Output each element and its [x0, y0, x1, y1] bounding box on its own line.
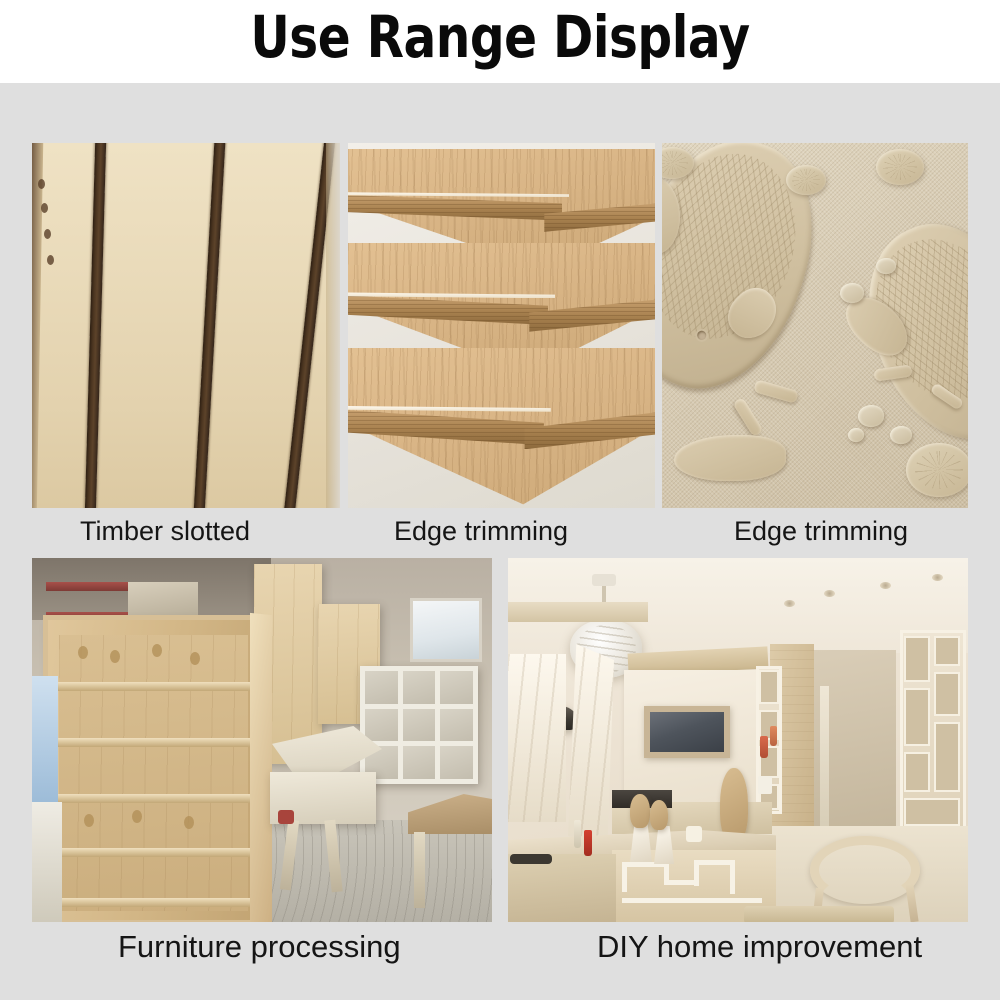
wood-knot	[190, 652, 200, 665]
tabletop-decor	[510, 854, 552, 864]
wood-knot	[47, 255, 54, 265]
white-cabinet	[32, 802, 62, 922]
screen-cell	[904, 636, 930, 682]
downlight	[880, 582, 891, 589]
cubby-cell	[440, 709, 473, 742]
wood-knot	[41, 203, 48, 213]
workshop-window	[410, 598, 482, 662]
image-furniture-processing	[32, 558, 492, 922]
wood-knot	[44, 229, 51, 239]
greek-key-motif	[730, 860, 735, 894]
cubby-cell	[403, 671, 436, 704]
curtain	[508, 654, 566, 822]
bookcase	[48, 620, 258, 920]
wood-sculpture-vase	[720, 768, 748, 842]
work-table-leg	[414, 832, 425, 908]
lotus-leaf	[906, 443, 968, 497]
carved-wave	[674, 435, 786, 481]
carved-pebble	[858, 405, 884, 427]
wishbone-chair-back	[810, 836, 920, 904]
decor-bottle	[574, 820, 581, 848]
panel-right-fade	[326, 143, 340, 508]
door-frame	[820, 686, 829, 836]
decor-bottle	[760, 736, 768, 758]
page-title: Use Range Display	[35, 2, 965, 72]
screen-cell	[934, 722, 960, 792]
cubby-cell	[365, 709, 398, 742]
planter	[758, 776, 772, 794]
ceiling-beam	[508, 602, 648, 622]
carved-pebble	[876, 258, 896, 274]
wood-knot	[184, 816, 194, 829]
board-front	[348, 348, 655, 508]
wood-ornament	[630, 794, 650, 828]
image-edge-trimming-boards	[348, 143, 655, 508]
decor-bottle	[584, 830, 592, 856]
pendant-canopy	[592, 574, 616, 586]
lattice-screen	[900, 630, 966, 832]
greek-key-motif	[694, 860, 734, 865]
cubby-cell	[440, 746, 473, 779]
greek-key-motif	[622, 862, 627, 892]
cubby-shelf-unit	[360, 666, 478, 784]
decor-bottle	[770, 726, 777, 746]
image-timber-slotted	[32, 143, 340, 508]
niche-cell	[759, 670, 779, 704]
wall-poster	[32, 676, 58, 802]
greek-key-motif	[664, 880, 698, 885]
image-carved-relief-panel	[662, 143, 968, 508]
wood-knot	[110, 650, 120, 663]
carved-pebble	[890, 426, 912, 444]
chair-seat	[744, 906, 894, 922]
candle-holder	[686, 826, 702, 842]
downlight	[932, 574, 943, 581]
screen-cell	[904, 752, 930, 792]
carved-pebble	[848, 428, 864, 442]
cubby-cell	[403, 709, 436, 742]
bookcase-side-panel	[250, 613, 272, 922]
screen-cell	[904, 688, 930, 746]
caption-timber-slotted: Timber slotted	[80, 516, 250, 546]
downlight	[824, 590, 835, 597]
screen-cell	[934, 672, 960, 716]
lotus-leaf	[876, 149, 924, 185]
bookcase-shelf	[56, 848, 249, 857]
image-diy-home-improvement	[508, 558, 968, 922]
bookcase-shelf	[56, 738, 249, 747]
caption-edge-trimming-2: Edge trimming	[734, 516, 908, 546]
wood-knot	[152, 644, 162, 657]
caption-diy-home-improvement: DIY home improvement	[597, 930, 922, 964]
wood-knot	[38, 179, 45, 189]
carved-pebble	[840, 283, 864, 303]
screen-cell	[934, 636, 960, 666]
wood-knot	[132, 810, 142, 823]
wood-knot	[78, 646, 88, 659]
wood-knot	[84, 814, 94, 827]
television	[644, 706, 730, 758]
counter-side	[508, 854, 616, 922]
bookcase-shelf	[56, 794, 249, 803]
greek-key-motif	[622, 898, 762, 903]
wood-ornament	[650, 800, 668, 830]
bookcase-shelf	[56, 898, 249, 907]
bookcase-back-panel	[59, 635, 248, 911]
stored-box	[128, 582, 198, 618]
bookcase-shelf	[56, 682, 249, 691]
lotus-leaf	[786, 165, 826, 195]
cubby-cell	[365, 671, 398, 704]
screen-cell	[904, 798, 960, 826]
caption-furniture-processing: Furniture processing	[118, 930, 401, 964]
cubby-cell	[440, 671, 473, 704]
downlight	[784, 600, 795, 607]
clamp-handle	[278, 810, 294, 824]
caption-edge-trimming-1: Edge trimming	[394, 516, 568, 546]
cubby-cell	[403, 746, 436, 779]
